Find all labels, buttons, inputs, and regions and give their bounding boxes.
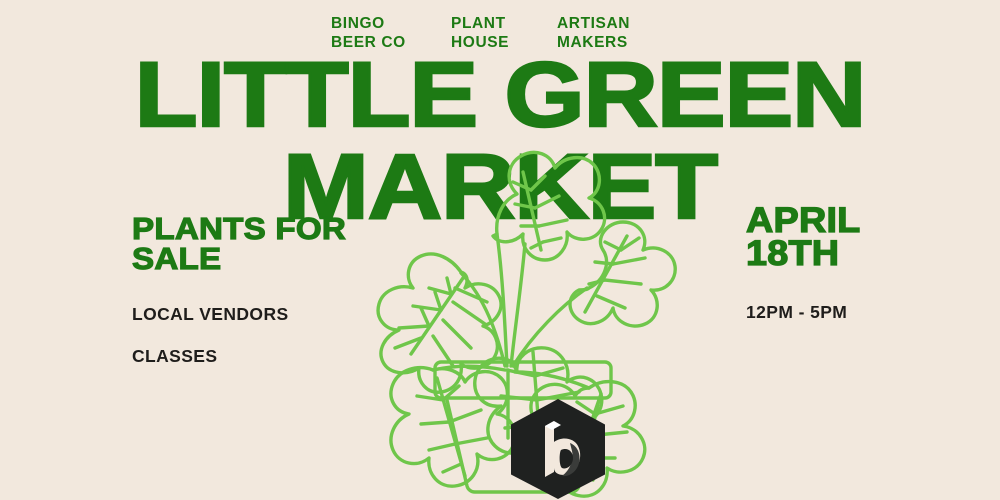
left-item-classes: CLASSES <box>132 346 372 367</box>
left-item-local-vendors: LOCAL VENDORS <box>132 304 372 325</box>
poster-canvas: BINGO BEER CO PLANT HOUSE ARTISAN MAKERS… <box>0 0 1000 500</box>
bingo-hexagon-b-logo <box>508 398 608 500</box>
plants-for-sale-heading: PLANTS FOR SALE <box>132 214 389 274</box>
event-time: 12PM - 5PM <box>746 302 966 323</box>
right-info-block: APRIL 18TH 12PM - 5PM <box>746 204 966 323</box>
left-info-block: PLANTS FOR SALE LOCAL VENDORS CLASSES <box>132 214 372 367</box>
event-date: APRIL 18TH <box>746 204 984 270</box>
